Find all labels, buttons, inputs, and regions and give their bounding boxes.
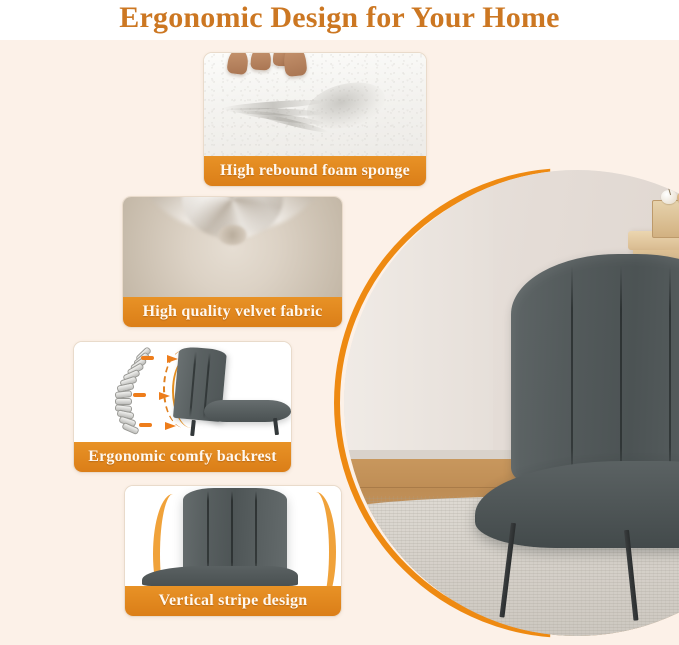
panel-label-velvet: High quality velvet fabric — [123, 297, 342, 327]
chair-back-closeup — [183, 488, 287, 574]
spine-support-diagram — [74, 342, 291, 442]
finger — [250, 53, 272, 70]
chair-seat-closeup — [142, 566, 298, 586]
page-title: Ergonomic Design for Your Home — [0, 0, 679, 38]
feature-panel-velvet: High quality velvet fabric — [122, 196, 343, 328]
hero-circle-clip — [344, 170, 679, 636]
panel-label-foam: High rebound foam sponge — [204, 156, 426, 186]
velvet-fabric-swirl-photo — [123, 197, 342, 297]
spine-illustration — [100, 350, 156, 434]
panel-label-stripe: Vertical stripe design — [125, 586, 341, 616]
arrow-tail — [139, 423, 152, 427]
side-chair-seat — [204, 400, 291, 422]
arrow-tail — [133, 393, 146, 397]
feature-panel-foam: High rebound foam sponge — [203, 52, 427, 187]
vertical-stripe-closeup-photo — [125, 486, 341, 586]
decor-basket — [652, 200, 679, 237]
arrow-tail — [141, 356, 154, 360]
chair-backrest — [511, 254, 679, 487]
thumb — [282, 53, 307, 77]
feature-panel-stripe: Vertical stripe design — [124, 485, 342, 617]
chair-seat — [475, 461, 679, 548]
accent-chair — [493, 254, 679, 617]
feature-panel-backrest: Ergonomic comfy backrest — [73, 341, 292, 473]
room-scene — [344, 170, 679, 636]
hero-photo — [334, 168, 679, 638]
memory-foam-handprint-photo — [204, 53, 426, 156]
wall-corner — [344, 170, 493, 459]
panel-label-backrest: Ergonomic comfy backrest — [74, 442, 291, 472]
